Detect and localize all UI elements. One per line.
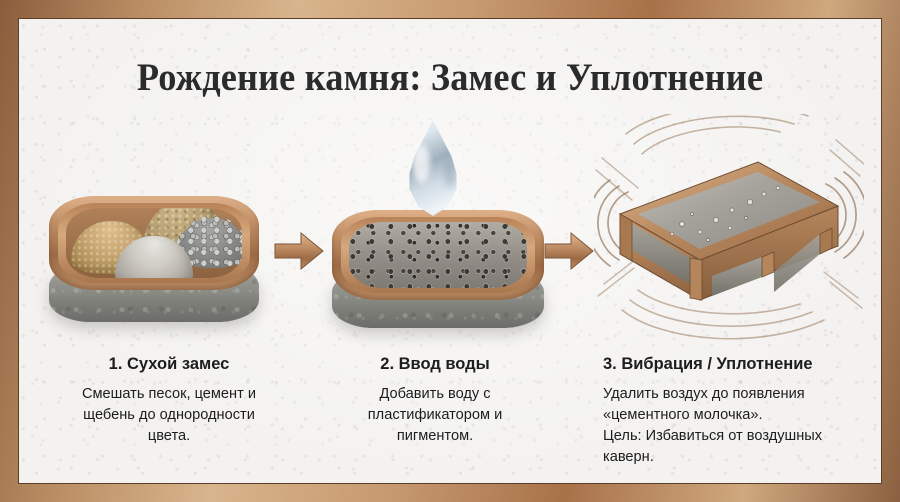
step-3-illustration: [594, 114, 864, 344]
tray-cavity: [66, 208, 242, 278]
step-1-caption: 1. Сухой замес Смешать песок, цемент и щ…: [43, 354, 295, 447]
step-2-illustration: [324, 114, 554, 344]
arrow-step2-to-step3: [543, 230, 595, 272]
step-3-caption: 3. Вибрация / Уплотнение Удалить воздух …: [603, 354, 881, 468]
concrete-mold-icon: [612, 150, 846, 302]
water-droplet-icon: [402, 120, 464, 216]
tray-copper-rim: [49, 196, 259, 290]
arrow-step1-to-step2: [273, 230, 325, 272]
step-2-caption: 2. Ввод воды Добавить воду с пластификат…: [319, 354, 551, 447]
poster-canvas: Рождение камня: Замес и Уплотнение: [19, 19, 881, 483]
dry-mix-tray-icon: [49, 196, 259, 322]
tray-copper-rim: [332, 210, 544, 300]
step-3-body: Удалить воздух до появления «цементного …: [603, 384, 881, 468]
wet-mix-tray-icon: [332, 210, 544, 328]
step-1-heading: 1. Сухой замес: [43, 354, 295, 374]
step-2-body: Добавить воду с пластификатором и пигмен…: [319, 384, 551, 447]
step-1-body: Смешать песок, цемент и щебень до одноро…: [43, 384, 295, 447]
infographic-poster: Рождение камня: Замес и Уплотнение: [0, 0, 900, 502]
wet-concrete-surface: [349, 222, 527, 288]
step-2-heading: 2. Ввод воды: [319, 354, 551, 374]
step-3-heading: 3. Вибрация / Уплотнение: [603, 354, 881, 374]
page-title: Рождение камня: Замес и Уплотнение: [49, 55, 851, 100]
step-1-illustration: [41, 114, 271, 344]
illustration-stage: [19, 114, 881, 344]
